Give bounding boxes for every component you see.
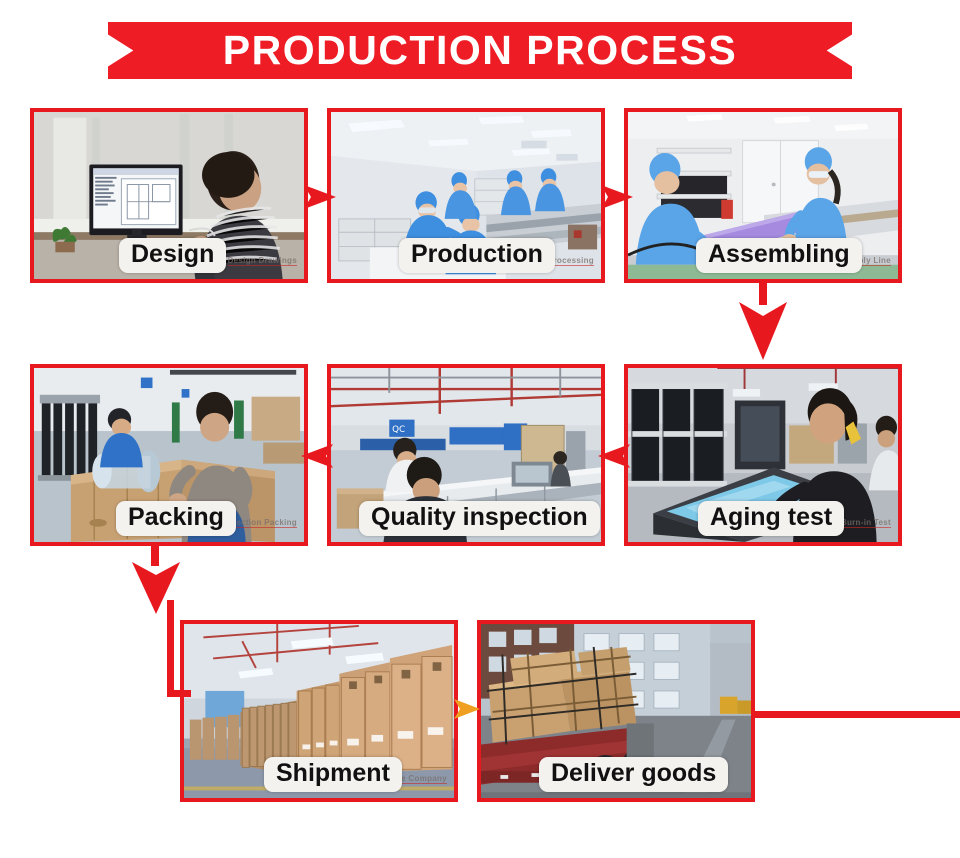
arrow-right-icon	[599, 179, 635, 215]
page-title: PRODUCTION PROCESS	[223, 30, 738, 71]
arrow-right-icon	[302, 179, 338, 215]
arrow-assembling-to-aging-test	[735, 300, 791, 364]
step-panel-production[interactable]: Component Processing Production	[327, 108, 605, 283]
arrow-shipment-to-deliver-goods	[452, 694, 482, 724]
arrow-left-icon	[299, 438, 335, 474]
arrow-production-to-assembling	[599, 179, 635, 215]
arrow-quality-inspection-to-packing	[299, 438, 335, 474]
svg-text:QC: QC	[392, 425, 405, 435]
step-panel-aging-test[interactable]: Aging Burn-in Test Aging test	[624, 364, 902, 546]
step-label-design: Design	[119, 238, 226, 273]
arrow-packing-down	[128, 560, 184, 616]
arrow-aging-test-to-quality-inspection	[596, 438, 632, 474]
step-label-production: Production	[399, 238, 555, 273]
step-panel-assembling[interactable]: Screen Assembly Line Assembling	[624, 108, 902, 283]
page-title-banner: PRODUCTION PROCESS	[108, 22, 852, 79]
arrow-design-to-production	[302, 179, 338, 215]
step-label-shipment: Shipment	[264, 757, 402, 792]
step-label-aging-test: Aging test	[698, 501, 844, 536]
arrow-right-icon	[452, 694, 482, 724]
title-ribbon: PRODUCTION PROCESS	[108, 22, 852, 79]
step-label-assembling: Assembling	[696, 238, 862, 273]
step-panel-quality-inspection[interactable]: QC	[327, 364, 605, 546]
connector-line-deliver-goods-outbound	[751, 711, 960, 718]
step-panel-deliver-goods[interactable]: Deliver goods	[477, 620, 755, 802]
arrow-down-icon	[735, 300, 791, 364]
step-label-packing: Packing	[116, 501, 236, 536]
step-panel-shipment[interactable]: Warehouse Company Shipment	[180, 620, 458, 802]
step-panel-packing[interactable]: Wrap Protection Packing Packing	[30, 364, 308, 546]
watermark-design: Design Drawings	[228, 256, 297, 266]
arrow-down-icon	[128, 560, 184, 616]
arrow-left-icon	[596, 438, 632, 474]
connector-line-packing-elbow	[167, 690, 191, 697]
step-label-quality-inspection: Quality inspection	[359, 501, 600, 536]
step-label-deliver-goods: Deliver goods	[539, 757, 728, 792]
step-panel-design[interactable]: Design Drawings Design	[30, 108, 308, 283]
